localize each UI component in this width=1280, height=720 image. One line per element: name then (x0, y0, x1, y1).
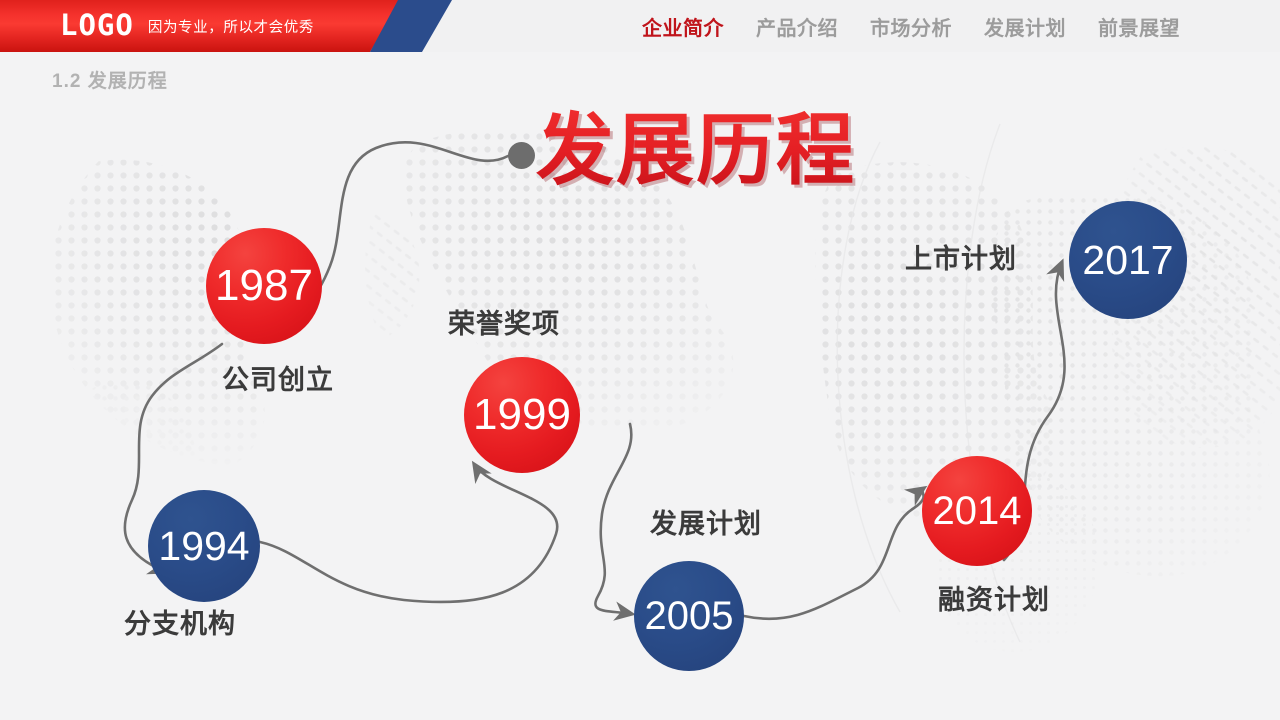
timeline-year-2014[interactable]: 2014 (922, 456, 1032, 566)
top-header-bar: LOGO 因为专业，所以才会优秀 企业简介 产品介绍 市场分析 发展计划 前景展… (0, 0, 1280, 52)
slide-canvas: 发展历程 发展历程 1987 公司创立 1994 分支机构 1999 荣誉奖项 … (0, 0, 1280, 720)
main-nav: 企业简介 产品介绍 市场分析 发展计划 前景展望 (642, 0, 1180, 52)
nav-item-company-profile[interactable]: 企业简介 (642, 12, 724, 41)
logo-block[interactable]: LOGO 因为专业，所以才会优秀 (60, 0, 314, 52)
timeline-caption-2005: 发展计划 (650, 502, 762, 541)
timeline-year-1994[interactable]: 1994 (148, 490, 260, 602)
timeline-year-2005[interactable]: 2005 (634, 561, 744, 671)
connector-2005-to-2014 (744, 488, 924, 619)
timeline-caption-1994: 分支机构 (124, 602, 236, 641)
timeline-caption-1999: 荣誉奖项 (448, 302, 560, 341)
timeline-caption-2017: 上市计划 (905, 237, 1017, 276)
timeline-year-2017[interactable]: 2017 (1069, 201, 1187, 319)
logo-text[interactable]: LOGO (60, 11, 134, 40)
connector-1999-to-2005 (595, 424, 632, 614)
nav-item-development-plan[interactable]: 发展计划 (984, 12, 1066, 41)
timeline-year-1987[interactable]: 1987 (206, 228, 322, 344)
title-bullet-dot (508, 142, 535, 169)
logo-slogan: 因为专业，所以才会优秀 (148, 16, 314, 37)
nav-item-future-outlook[interactable]: 前景展望 (1098, 12, 1180, 41)
page-title: 发展历程 (536, 108, 856, 194)
nav-item-product-intro[interactable]: 产品介绍 (756, 12, 838, 41)
section-label: 1.2 发展历程 (52, 66, 168, 93)
timeline-caption-2014: 融资计划 (938, 578, 1050, 617)
nav-item-market-analysis[interactable]: 市场分析 (870, 12, 952, 41)
timeline-caption-1987: 公司创立 (222, 358, 334, 397)
section-number: 1.2 (52, 71, 81, 92)
timeline-year-1999[interactable]: 1999 (464, 357, 580, 473)
connector-1994-to-1999 (260, 464, 557, 602)
section-title: 发展历程 (88, 71, 168, 92)
